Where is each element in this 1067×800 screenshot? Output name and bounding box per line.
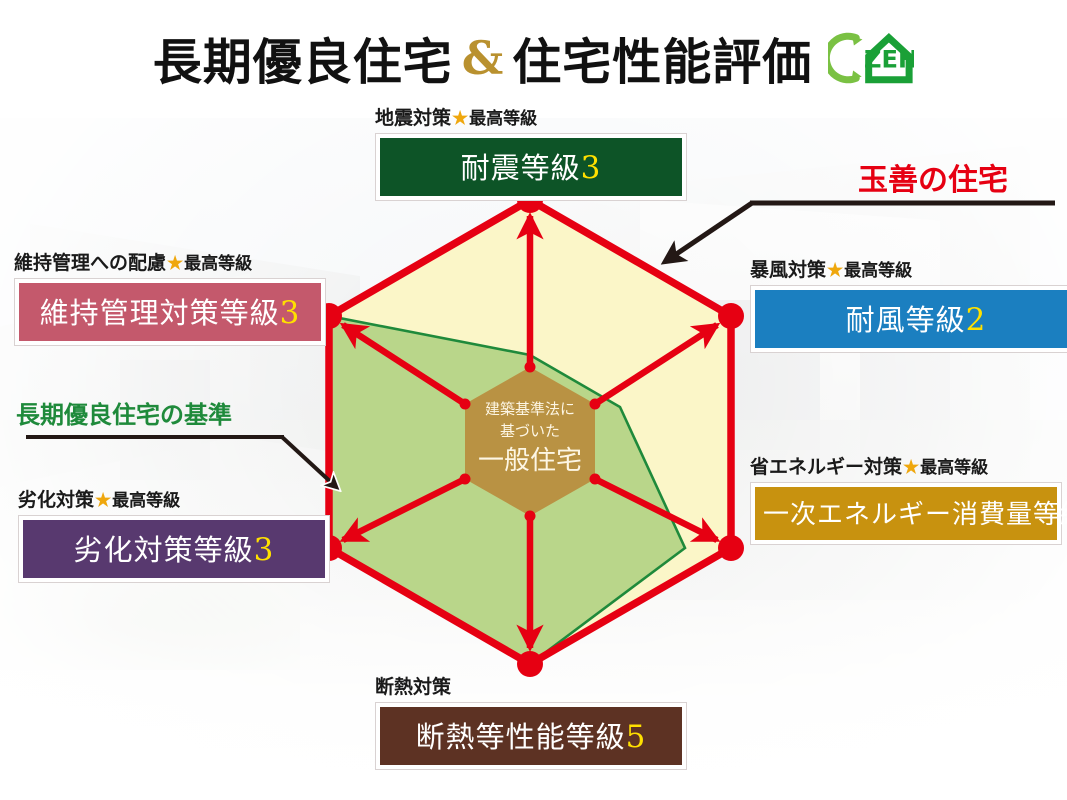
badge-insulation-caption-main: 断熱対策 <box>375 676 451 698</box>
badge-maintenance-caption: 維持管理への配慮★最高等級 <box>14 248 326 275</box>
badge-earthquake-caption-main: 地震対策 <box>375 107 451 129</box>
star-icon: ★ <box>451 108 469 129</box>
page-title: 長期優良住宅 & 住宅性能評価 ZEH <box>0 18 1067 98</box>
badge-insulation-box: 断熱等性能等級5 <box>380 707 682 765</box>
zeh-logo-icon: ZEH <box>828 30 914 86</box>
badge-energy-caption-main: 省エネルギー対策 <box>750 456 902 478</box>
badge-maintenance-caption-main: 維持管理への配慮 <box>14 252 166 274</box>
title-ampersand: & <box>459 31 507 85</box>
badge-degradation-label: 劣化対策等級 <box>74 533 254 567</box>
svg-text:ZEH: ZEH <box>864 45 914 73</box>
callout-company-arrow <box>640 155 1060 285</box>
badge-insulation-caption: 断熱対策 <box>375 672 687 699</box>
badge-insulation[interactable]: 断熱対策 断熱等性能等級5 <box>375 672 687 770</box>
badge-maintenance-label: 維持管理対策等級 <box>40 296 280 330</box>
title-part-2: 住宅性能評価 <box>512 23 812 94</box>
callout-standard: 長期優良住宅の基準 <box>12 395 362 515</box>
badge-maintenance-caption-rank: 最高等級 <box>184 254 252 274</box>
badge-energy-frame: 一次エネルギー消費量等級6 <box>750 482 1062 545</box>
center-line-3: 一般住宅 <box>478 446 582 476</box>
title-part-1: 長期優良住宅 <box>153 23 453 94</box>
badge-maintenance[interactable]: 維持管理への配慮★最高等級 維持管理対策等級3 <box>14 248 326 346</box>
badge-energy-label: 一次エネルギー消費量等級 <box>763 500 1067 530</box>
badge-degradation-grade: 3 <box>254 532 275 568</box>
badge-maintenance-grade: 3 <box>280 295 301 331</box>
star-icon <box>451 677 453 698</box>
badge-wind-box: 耐風等級2 <box>755 290 1067 348</box>
badge-degradation-frame: 劣化対策等級3 <box>18 515 330 583</box>
badge-insulation-frame: 断熱等性能等級5 <box>375 702 687 770</box>
infographic-root: 長期優良住宅 & 住宅性能評価 ZEH <box>0 0 1067 800</box>
callout-standard-arrow <box>12 395 362 515</box>
badge-wind-frame: 耐風等級2 <box>750 285 1067 353</box>
callout-company: 玉善の住宅 <box>640 155 1060 285</box>
badge-earthquake-box: 耐震等級3 <box>380 138 682 196</box>
badge-wind-label: 耐風等級 <box>846 303 966 337</box>
star-icon: ★ <box>902 457 920 478</box>
badge-wind-grade: 2 <box>966 302 987 338</box>
center-line-2: 基づいた <box>500 422 560 440</box>
badge-insulation-grade: 5 <box>626 719 647 755</box>
badge-earthquake-caption-rank: 最高等級 <box>469 109 537 129</box>
badge-energy-caption-rank: 最高等級 <box>920 458 988 478</box>
badge-energy[interactable]: 省エネルギー対策★最高等級 一次エネルギー消費量等級6 <box>750 452 1062 545</box>
badge-earthquake-caption: 地震対策★最高等級 <box>375 103 687 130</box>
center-line-1: 建築基準法に <box>485 400 575 418</box>
badge-maintenance-frame: 維持管理対策等級3 <box>14 278 326 346</box>
badge-earthquake-label: 耐震等級 <box>461 151 581 185</box>
badge-insulation-label: 断熱等性能等級 <box>416 720 626 754</box>
badge-maintenance-box: 維持管理対策等級3 <box>19 283 321 341</box>
star-icon: ★ <box>166 253 184 274</box>
badge-degradation-box: 劣化対策等級3 <box>23 520 325 578</box>
badge-energy-caption: 省エネルギー対策★最高等級 <box>750 452 1062 479</box>
badge-earthquake-grade: 3 <box>581 150 602 186</box>
badge-energy-box: 一次エネルギー消費量等級6 <box>755 487 1057 540</box>
